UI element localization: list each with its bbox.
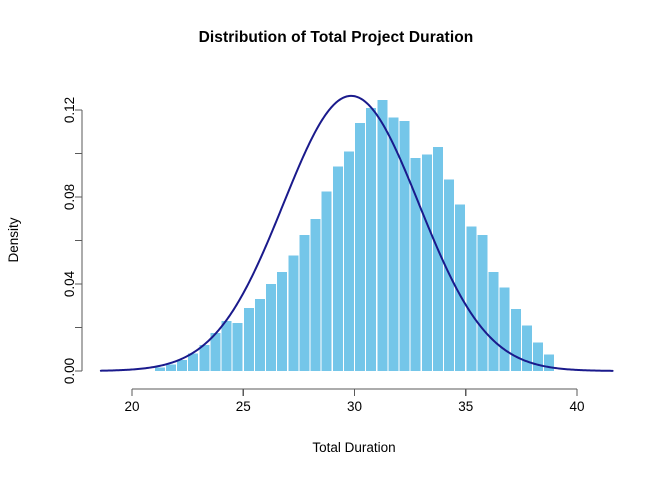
plot-area: 0.000.040.080.12 2025303540 Density Tota… — [0, 0, 672, 480]
histogram-bar — [377, 100, 387, 371]
y-tick-label: 0.08 — [62, 184, 77, 210]
x-tick-label: 20 — [124, 399, 139, 414]
y-axis-ticks: 0.000.040.080.12 — [62, 97, 82, 384]
histogram-bar — [188, 354, 198, 371]
x-tick-label: 25 — [236, 399, 251, 414]
histogram-bar — [322, 192, 332, 371]
histogram-bar — [299, 235, 309, 371]
histogram-bar — [233, 323, 243, 371]
histogram-bar — [177, 360, 187, 371]
histogram-bar — [255, 299, 265, 371]
histogram-bar — [288, 256, 298, 371]
histogram-bar — [511, 309, 521, 371]
histogram-bar — [522, 325, 532, 371]
x-axis: 2025303540 — [124, 389, 584, 414]
y-tick-label: 0.00 — [62, 358, 77, 384]
histogram-bar — [489, 272, 499, 371]
histogram-bar — [500, 287, 510, 371]
chart-canvas: Distribution of Total Project Duration 0… — [0, 0, 672, 480]
histogram-bar — [266, 284, 276, 371]
histogram-bar — [388, 118, 398, 371]
histogram-bar — [366, 108, 376, 371]
y-axis-title: Density — [6, 217, 21, 262]
x-tick-label: 30 — [347, 399, 362, 414]
x-tick-label: 40 — [569, 399, 584, 414]
histogram-bar — [422, 155, 432, 371]
histogram-bar — [477, 235, 487, 371]
y-tick-label: 0.12 — [62, 97, 77, 123]
histogram-bar — [355, 123, 365, 371]
histogram-bar — [155, 368, 165, 371]
histogram-bar — [400, 121, 410, 371]
histogram-bar — [222, 321, 232, 371]
x-axis-ticks: 2025303540 — [124, 389, 584, 414]
histogram-bar — [244, 308, 254, 371]
histogram-bar — [333, 167, 343, 371]
y-axis: 0.000.040.080.12 — [62, 97, 82, 384]
x-tick-label: 35 — [458, 399, 473, 414]
x-axis-title: Total Duration — [312, 440, 395, 455]
histogram-bar — [277, 272, 287, 371]
y-tick-label: 0.04 — [62, 270, 77, 297]
histogram-bar — [166, 364, 176, 371]
histogram-bar — [344, 151, 354, 371]
histogram-bar — [533, 343, 543, 371]
histogram-bar — [466, 226, 476, 371]
histogram-bar — [311, 219, 321, 371]
histogram-bar — [199, 345, 209, 371]
histogram-bars — [155, 100, 554, 371]
